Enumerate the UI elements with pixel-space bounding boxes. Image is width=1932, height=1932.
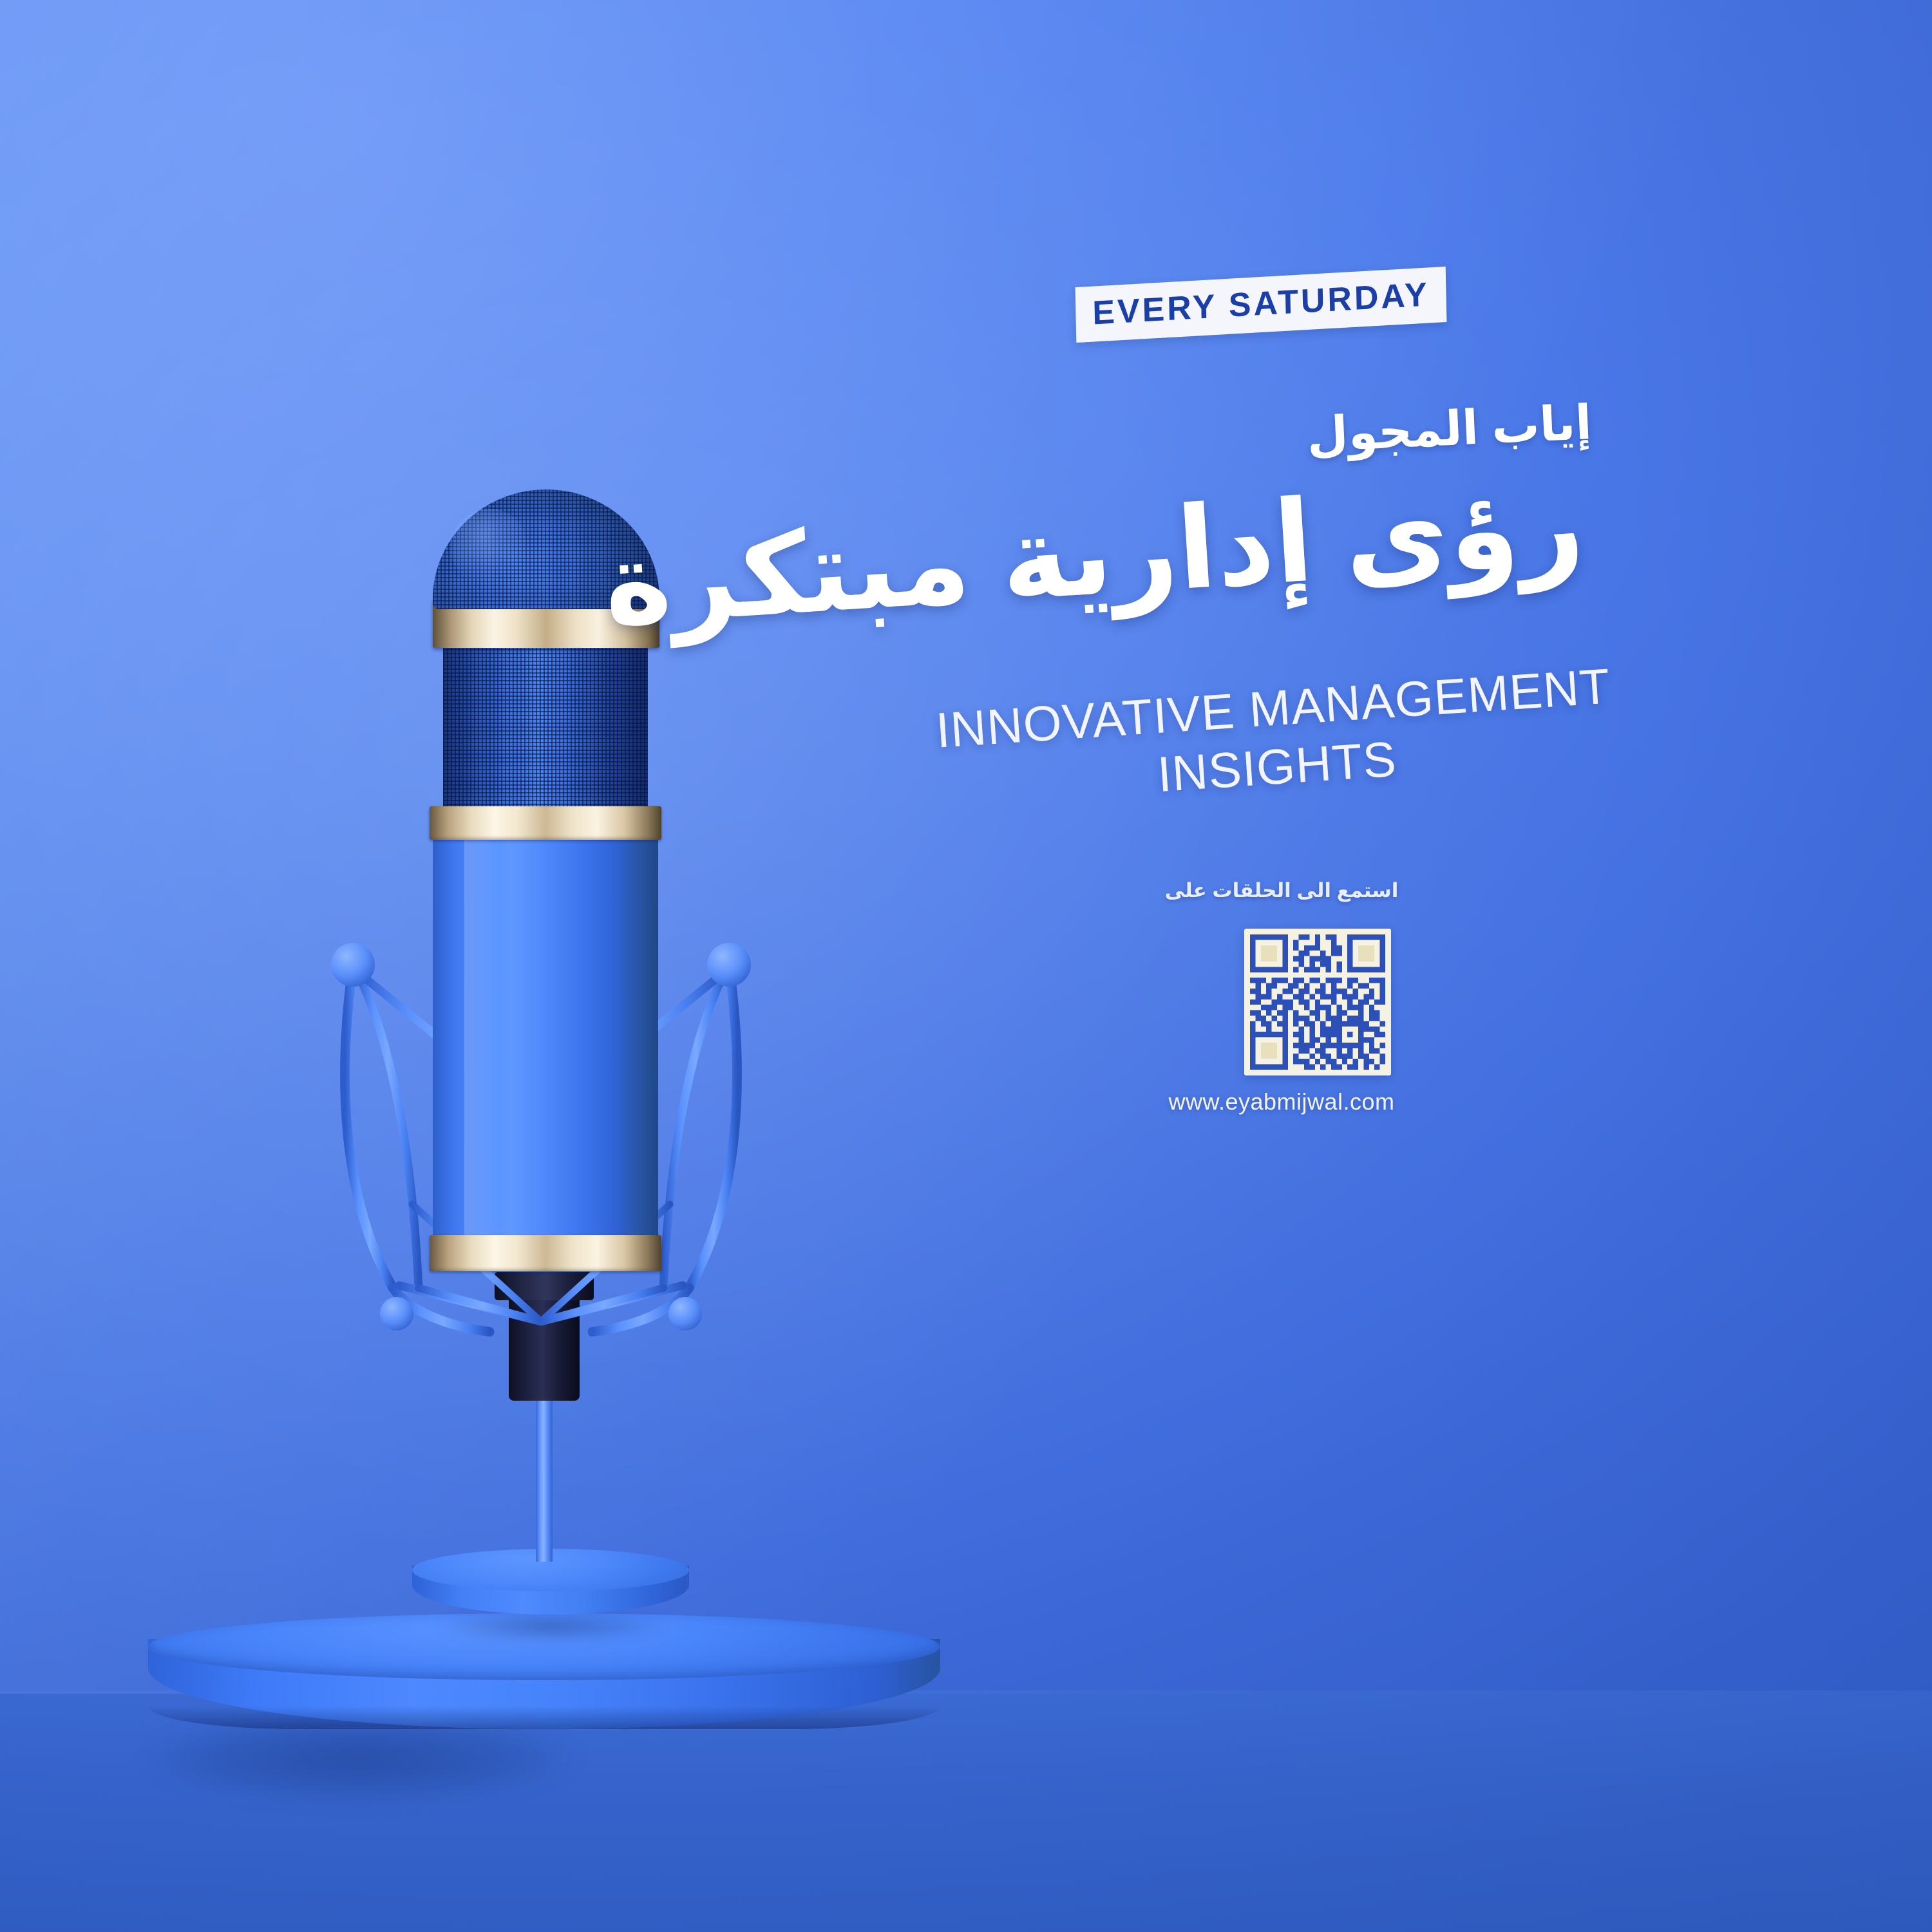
- mic-gold-band-lower: [430, 1235, 661, 1271]
- shock-mount-foot-right: [668, 1297, 702, 1331]
- schedule-badge: EVERY SATURDAY: [1074, 267, 1448, 343]
- mic-body: [433, 821, 658, 1259]
- mic-gold-band-upper: [430, 806, 661, 840]
- shock-mount-knob-right: [707, 943, 751, 987]
- website-url[interactable]: www.eyabmijwal.com: [1037, 1088, 1526, 1115]
- english-subtitle: INNOVATIVE MANAGEMENT INSIGHTS: [892, 654, 1658, 822]
- microphone-illustration: [0, 0, 799, 1932]
- shock-mount-knob-left: [331, 943, 375, 987]
- content-column: EVERY SATURDAY إياب المجول رؤى إدارية مب…: [792, 0, 1777, 1932]
- mic-grille-lower: [443, 644, 648, 817]
- schedule-badge-label: EVERY SATURDAY: [1075, 267, 1447, 343]
- qr-code[interactable]: [1244, 929, 1391, 1075]
- listen-prompt: استمع الى الحلقات على: [1037, 879, 1526, 902]
- mic-dome-highlight: [451, 509, 528, 586]
- podcast-poster: EVERY SATURDAY إياب المجول رؤى إدارية مب…: [0, 0, 1932, 1932]
- episode-headline: رؤى إدارية مبتكرة: [641, 457, 1690, 644]
- mic-stand-pole: [536, 1388, 553, 1562]
- shock-mount-foot-left: [380, 1297, 413, 1331]
